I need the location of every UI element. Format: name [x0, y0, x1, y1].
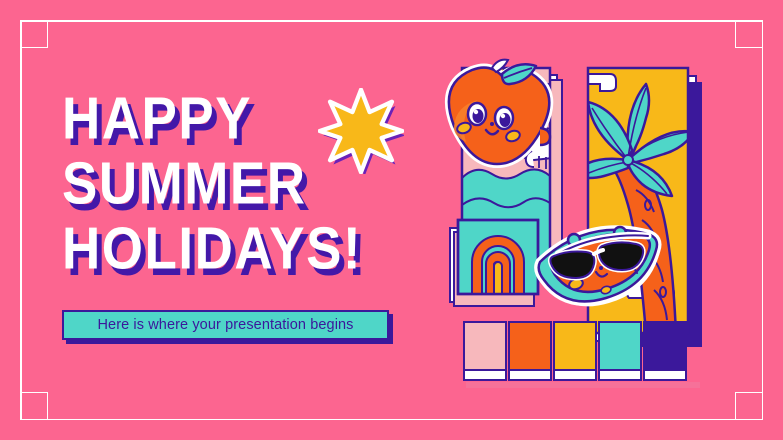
frame-edge-left	[20, 20, 22, 420]
frame-edge-top	[20, 20, 763, 22]
arch-panel-content	[458, 220, 538, 294]
corner-square-top-left	[20, 20, 48, 48]
title-line-3: Holidays!	[62, 218, 422, 281]
swatch-purple	[644, 322, 686, 380]
frame-edge-bottom	[20, 419, 763, 421]
subtitle-text: Here is where your presentation begins	[97, 317, 353, 333]
subtitle-banner[interactable]: Here is where your presentation begins	[62, 310, 389, 340]
corner-square-bottom-right	[735, 392, 763, 420]
color-swatch-strip	[464, 322, 700, 388]
corner-square-top-right	[735, 20, 763, 48]
star-icon	[318, 88, 404, 174]
slide-canvas: Happy Summer Holidays! Here is where you…	[0, 0, 783, 440]
summer-collage-illustration	[436, 50, 766, 395]
corner-square-bottom-left	[20, 392, 48, 420]
corner-bracket-bottom-left	[20, 362, 78, 420]
swatch-teal	[599, 322, 641, 380]
swatch-light-pink	[464, 322, 506, 380]
corner-bracket-top-left	[20, 20, 78, 78]
swatch-orange	[509, 322, 551, 380]
swatch-gold	[554, 322, 596, 380]
